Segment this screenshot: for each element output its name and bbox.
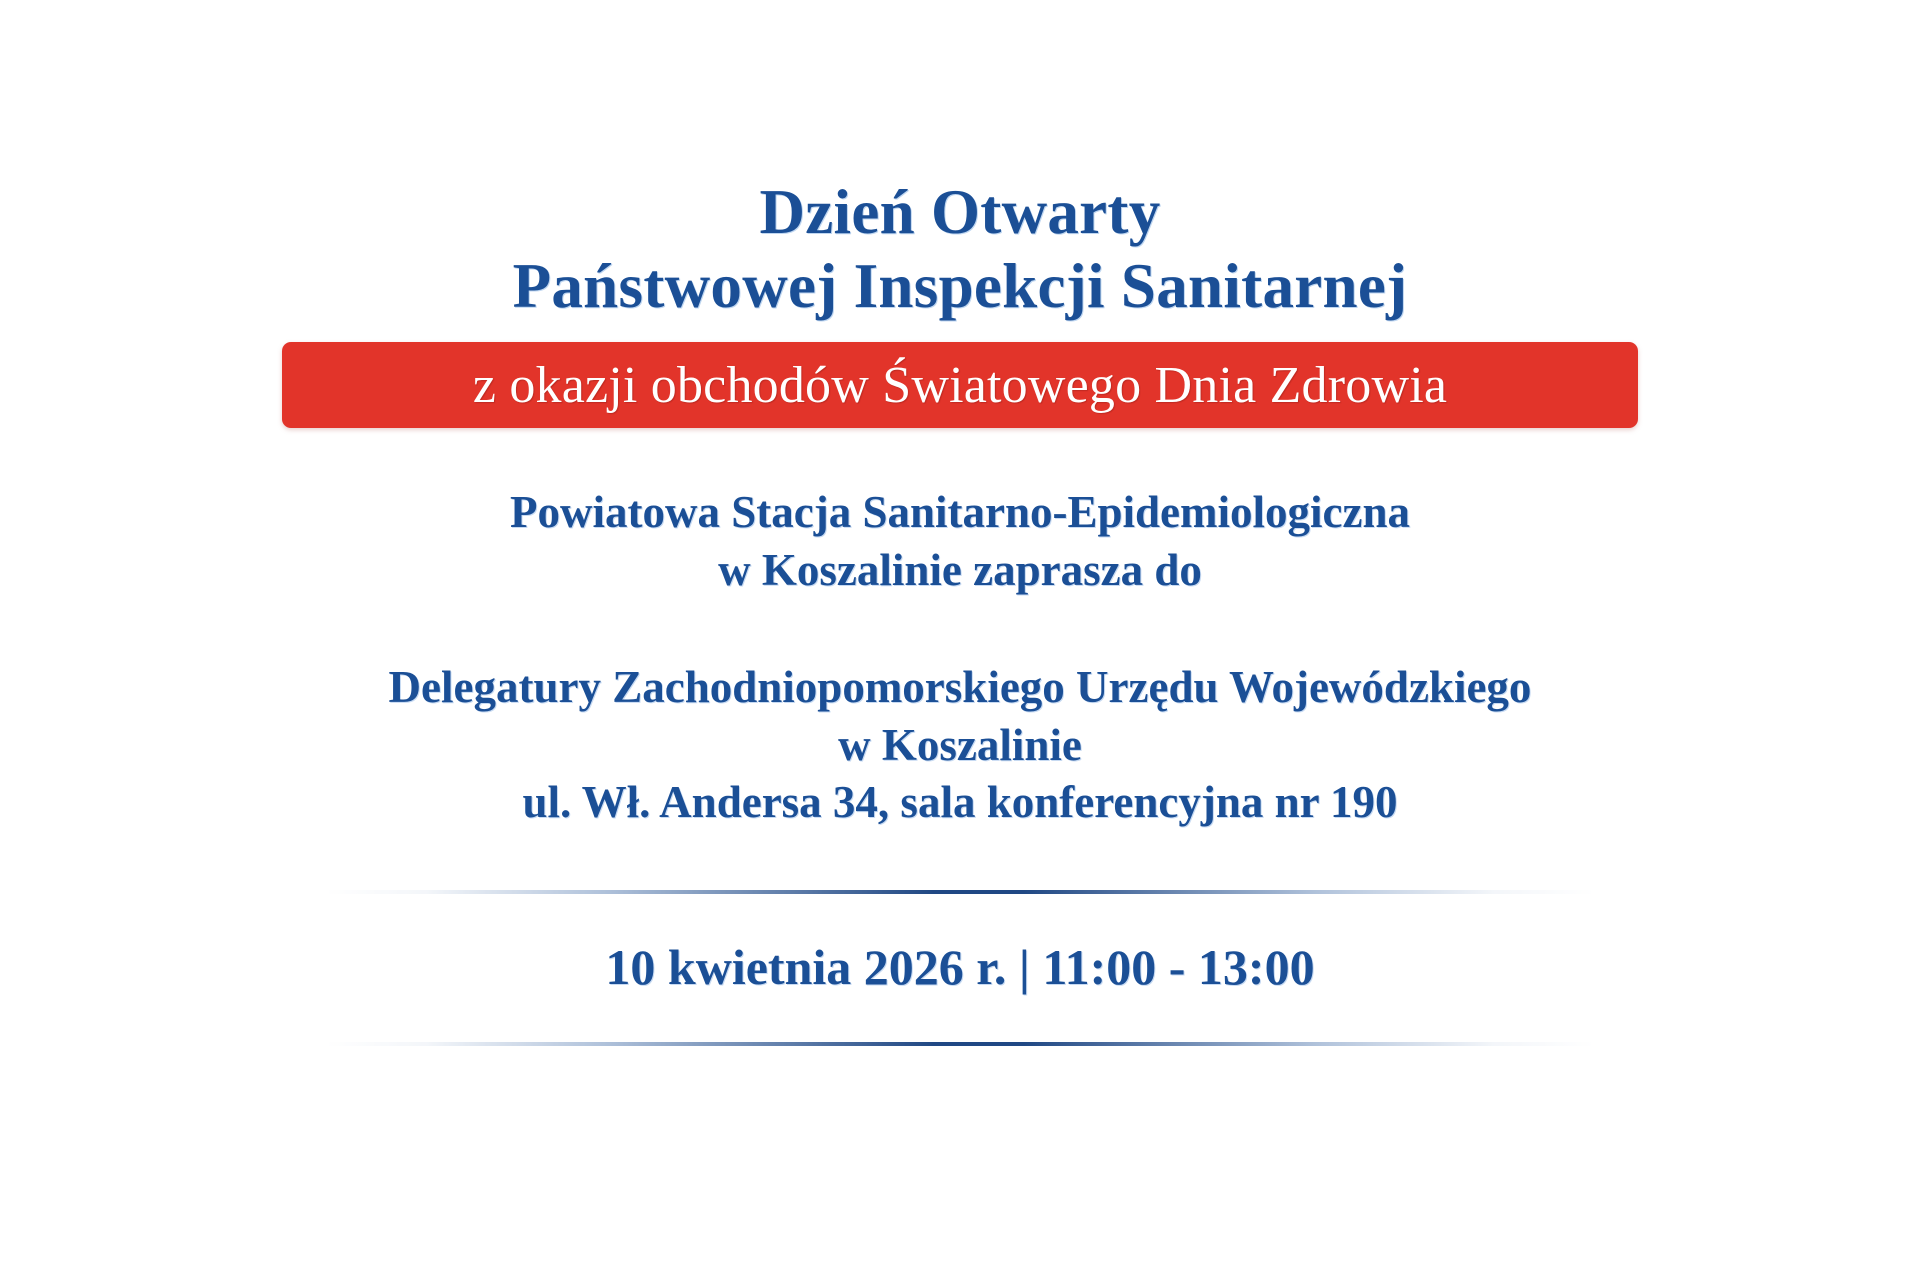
page-title: Dzień Otwarty Państwowej Inspekcji Sanit… xyxy=(513,178,1408,320)
title-line-2: Państwowej Inspekcji Sanitarnej xyxy=(513,252,1408,320)
venue-line-1: Delegatury Zachodniopomorskiego Urzędu W… xyxy=(389,659,1532,717)
venue-address-block: Delegatury Zachodniopomorskiego Urzędu W… xyxy=(389,659,1532,832)
venue-line-2: w Koszalinie xyxy=(389,717,1532,775)
divider-bottom xyxy=(325,1042,1595,1046)
poster-canvas: Dzień Otwarty Państwowej Inspekcji Sanit… xyxy=(0,0,1920,1280)
venue-line-3: ul. Wł. Andersa 34, sala konferencyjna n… xyxy=(389,774,1532,832)
occasion-banner: z okazji obchodów Światowego Dnia Zdrowi… xyxy=(282,342,1638,428)
schedule-section: 10 kwietnia 2026 r. | 11:00 - 13:00 xyxy=(325,890,1595,1046)
host-line-1: Powiatowa Stacja Sanitarno-Epidemiologic… xyxy=(510,484,1410,542)
host-organization-block: Powiatowa Stacja Sanitarno-Epidemiologic… xyxy=(510,484,1410,599)
host-line-2: w Koszalinie zaprasza do xyxy=(510,542,1410,600)
occasion-banner-text: z okazji obchodów Światowego Dnia Zdrowi… xyxy=(473,356,1447,415)
divider-top xyxy=(325,890,1595,894)
schedule-date-time: 10 kwietnia 2026 r. | 11:00 - 13:00 xyxy=(605,938,1314,996)
title-line-1: Dzień Otwarty xyxy=(513,178,1408,246)
